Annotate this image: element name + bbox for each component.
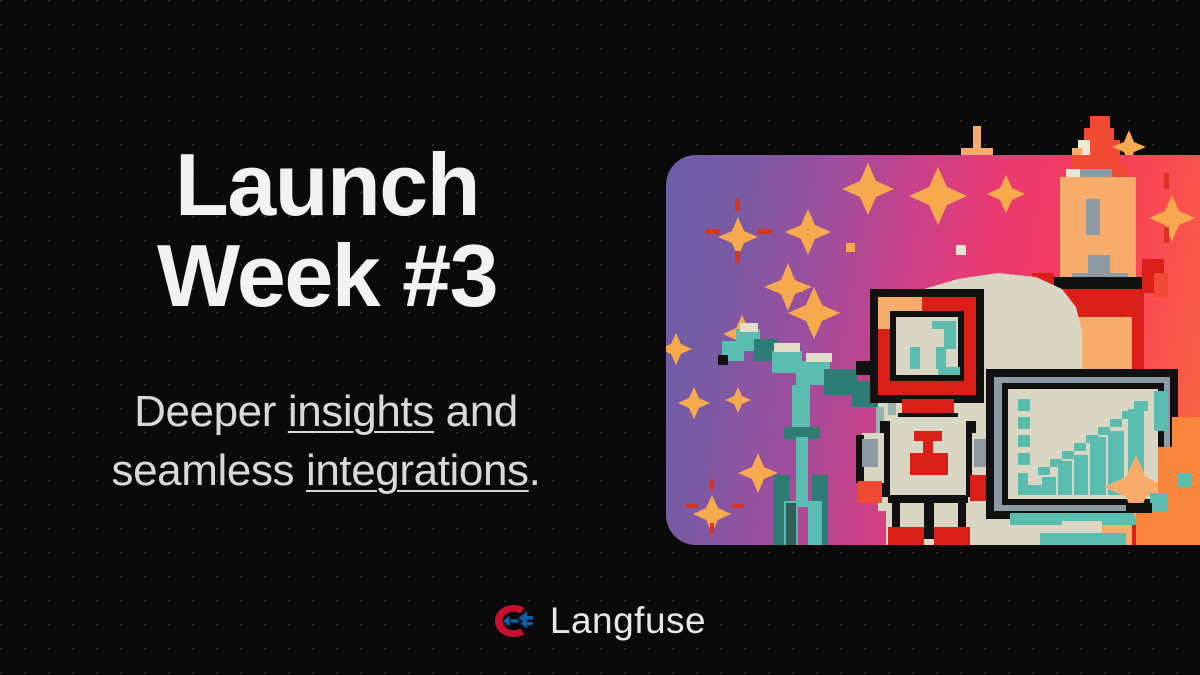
hero-card bbox=[666, 155, 1200, 545]
subtitle-text-3: seamless bbox=[112, 446, 306, 495]
subtitle-text-1: Deeper bbox=[134, 387, 288, 436]
copy-column: Launch Week #3 Deeper insights and seaml… bbox=[0, 140, 640, 501]
subtitle-highlight-integrations: integrations bbox=[306, 446, 529, 495]
page-title: Launch Week #3 bbox=[0, 140, 640, 321]
launch-week-banner: Launch Week #3 Deeper insights and seaml… bbox=[0, 0, 1200, 675]
subtitle: Deeper insights and seamless integration… bbox=[0, 383, 640, 501]
subtitle-text-4: . bbox=[529, 446, 541, 495]
hero-illustration bbox=[666, 108, 1200, 548]
brand-wordmark: Langfuse bbox=[550, 602, 706, 639]
langfuse-logo-icon bbox=[494, 604, 534, 638]
telescope bbox=[718, 323, 878, 545]
brand-lockup: Langfuse bbox=[0, 602, 1200, 639]
subtitle-line-1: Deeper insights and bbox=[12, 383, 640, 442]
subtitle-line-2: seamless integrations. bbox=[12, 442, 640, 501]
subtitle-text-2: and bbox=[434, 387, 518, 436]
subtitle-highlight-insights: insights bbox=[288, 387, 434, 436]
